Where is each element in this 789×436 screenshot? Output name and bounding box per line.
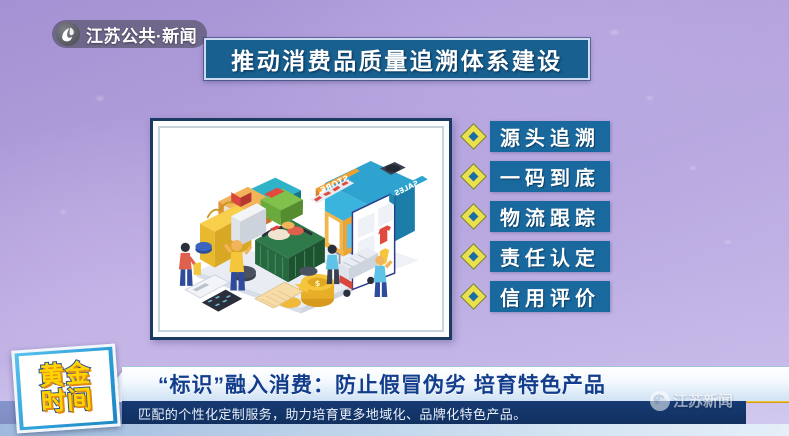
key-point-bar: 源头追溯 xyxy=(490,121,610,152)
key-point-bar: 责任认定 xyxy=(490,241,610,272)
diamond-bullet-icon xyxy=(464,207,483,226)
key-points-list: 源头追溯 一码到底 物流跟踪 责任认定 信用评价 xyxy=(464,121,610,312)
key-point-bar: 信用评价 xyxy=(490,281,610,312)
title-banner: 推动消费品质量追溯体系建设 xyxy=(204,38,590,80)
illustration-mat: STORE xyxy=(158,126,444,332)
background-speck xyxy=(96,96,104,101)
key-point-bar: 一码到底 xyxy=(490,161,610,192)
title-banner-text: 推动消费品质量追溯体系建设 xyxy=(231,42,563,76)
wechat-icon xyxy=(650,391,670,411)
background-speck xyxy=(690,166,696,170)
lower-third-headline: “标识”融入消费：防止假冒伪劣 培育特色产品 xyxy=(158,369,606,399)
show-logo-text: 黄金 时间 xyxy=(11,343,121,433)
channel-logo: 江苏公共·新闻 xyxy=(52,20,207,48)
show-logo: 黄金 时间 xyxy=(11,343,121,433)
diamond-bullet-icon xyxy=(464,127,483,146)
diamond-bullet-icon xyxy=(464,287,483,306)
background-speck xyxy=(610,30,619,35)
lower-third-ticker: 匹配的个性化定制服务，助力培育更多地域化、品牌化特色产品。 xyxy=(138,404,527,423)
wave-mark-icon xyxy=(56,22,80,46)
show-logo-line-2: 时间 xyxy=(40,387,94,416)
watermark-label: 江苏新闻 xyxy=(673,390,733,411)
watermark: 江苏新闻 xyxy=(650,390,733,411)
key-point-item: 一码到底 xyxy=(464,161,610,192)
key-point-label: 一码到底 xyxy=(500,162,600,191)
key-point-label: 信用评价 xyxy=(500,282,600,311)
key-point-item: 责任认定 xyxy=(464,241,610,272)
diamond-bullet-icon xyxy=(464,247,483,266)
background-speck xyxy=(724,240,731,244)
key-point-item: 物流跟踪 xyxy=(464,201,610,232)
background-speck xyxy=(60,210,66,214)
key-point-label: 物流跟踪 xyxy=(500,202,600,231)
background-speck xyxy=(646,96,653,100)
key-point-item: 信用评价 xyxy=(464,281,610,312)
channel-logo-label: 江苏公共·新闻 xyxy=(86,22,197,47)
isometric-shopping-illustration: STORE xyxy=(160,128,442,330)
key-point-label: 责任认定 xyxy=(500,242,600,271)
key-point-item: 源头追溯 xyxy=(464,121,610,152)
diamond-bullet-icon xyxy=(464,167,483,186)
broadcast-screen: 江苏公共·新闻 推动消费品质量追溯体系建设 xyxy=(0,0,789,436)
svg-text:$: $ xyxy=(315,278,321,288)
key-point-bar: 物流跟踪 xyxy=(490,201,610,232)
key-point-label: 源头追溯 xyxy=(500,122,600,151)
illustration-frame: STORE xyxy=(150,118,452,340)
